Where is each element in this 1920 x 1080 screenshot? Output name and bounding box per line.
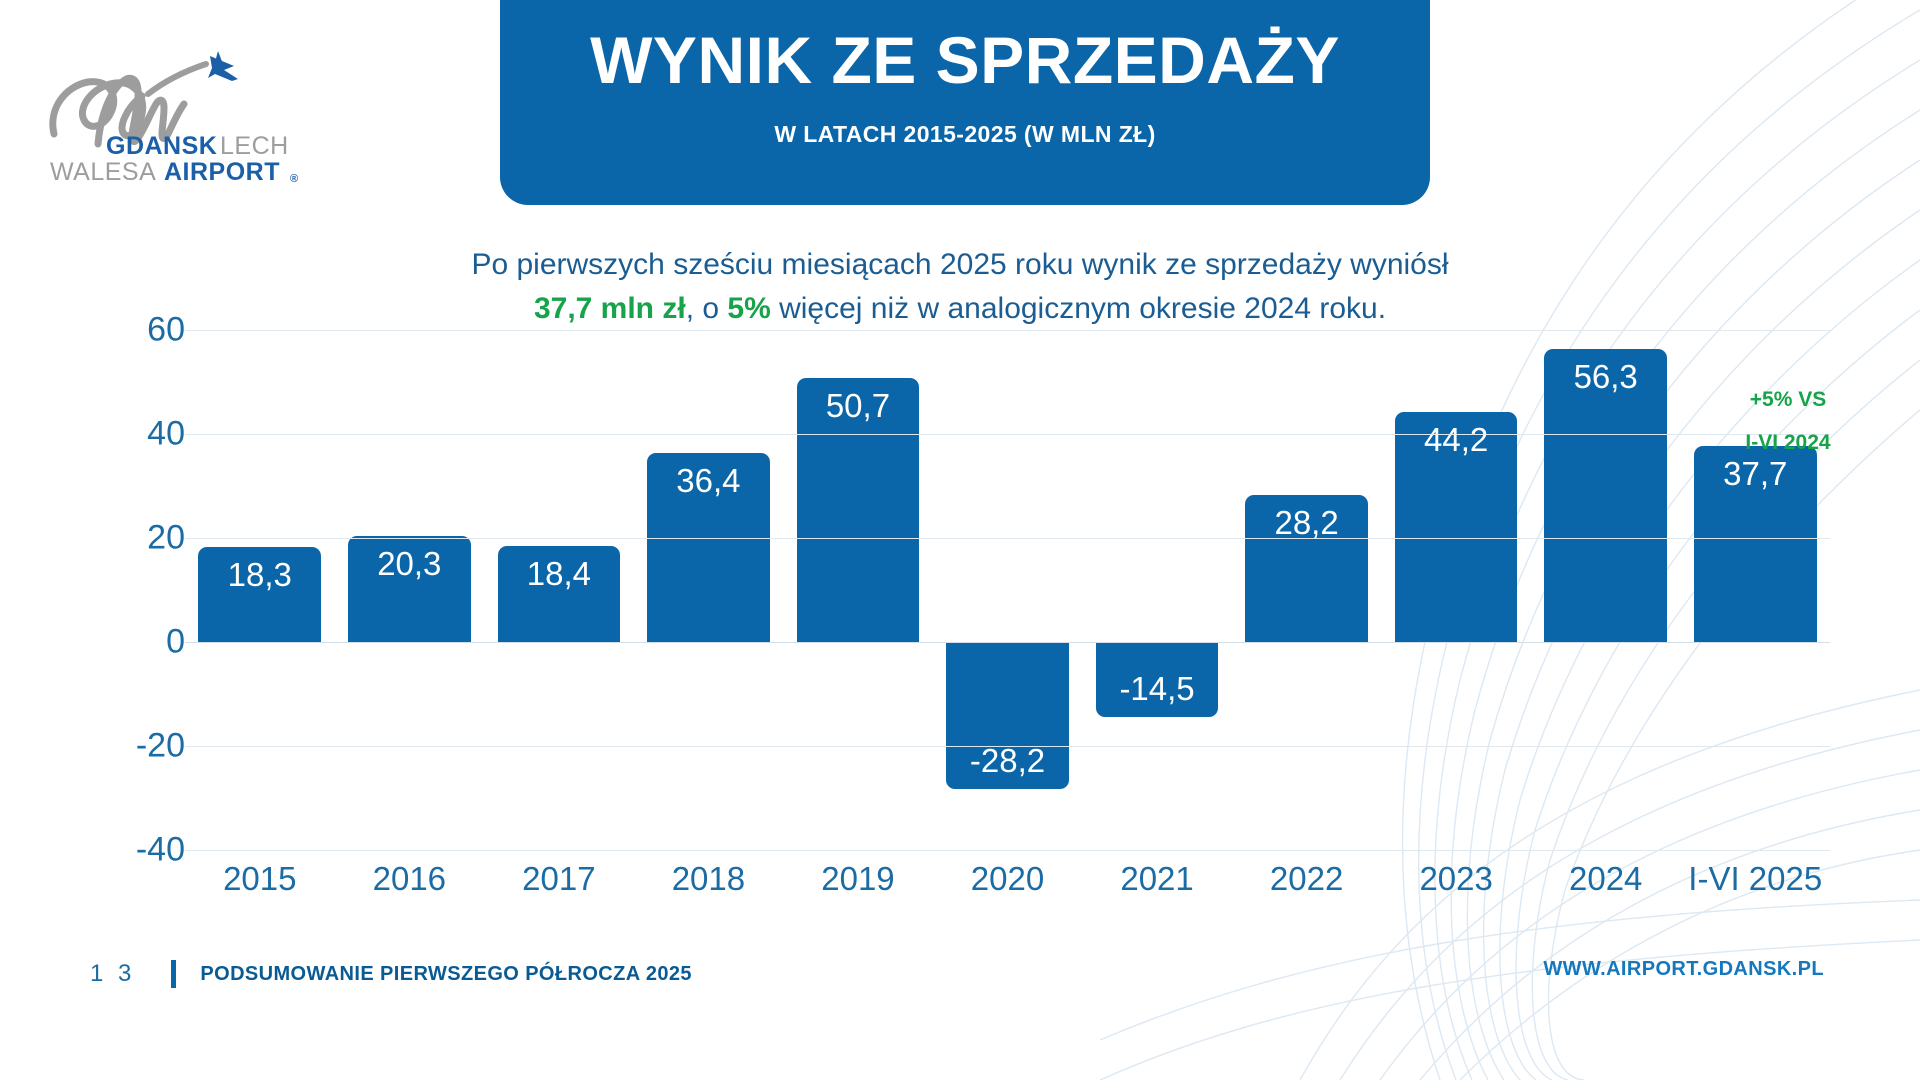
footer: 1 3 PODSUMOWANIE PIERWSZEGO PÓŁROCZA 202… — [0, 954, 1920, 994]
page-subtitle: W LATACH 2015-2025 (W MLN ZŁ) — [774, 121, 1155, 148]
bar-slot: 36,4 — [634, 330, 784, 850]
description-text-2: , o — [686, 292, 728, 325]
description-text-3: więcej niż w analogicznym okresie 2024 r… — [771, 292, 1386, 325]
svg-text:LECH: LECH — [220, 132, 289, 160]
bar[interactable]: 18,3 — [198, 547, 321, 642]
bar-slot: 18,4 — [484, 330, 634, 850]
bar-value-label: -28,2 — [946, 742, 1069, 780]
highlight-percent: 5% — [727, 292, 770, 325]
y-axis-tick: -20 — [136, 727, 185, 766]
bar[interactable]: 37,7 — [1694, 446, 1817, 642]
svg-text:WALESA: WALESA — [50, 158, 156, 186]
gridline — [185, 746, 1830, 747]
bar-value-label: 44,2 — [1395, 421, 1518, 459]
bar[interactable]: 50,7 — [797, 378, 920, 642]
y-axis-tick: 0 — [166, 623, 185, 662]
gridline — [185, 850, 1830, 851]
bar[interactable]: 36,4 — [647, 453, 770, 642]
bar-value-label: 50,7 — [797, 387, 920, 425]
title-banner: WYNIK ZE SPRZEDAŻY W LATACH 2015-2025 (W… — [500, 0, 1430, 205]
footer-title: PODSUMOWANIE PIERWSZEGO PÓŁROCZA 2025 — [200, 963, 692, 986]
footer-divider — [171, 960, 176, 988]
bar[interactable]: 18,4 — [498, 546, 621, 642]
x-axis-tick: 2023 — [1381, 860, 1531, 920]
page-title: WYNIK ZE SPRZEDAŻY — [590, 26, 1340, 95]
gridline — [185, 642, 1830, 643]
bar-slot: -14,5 — [1082, 330, 1232, 850]
x-axis: 2015201620172018201920202021202220232024… — [185, 860, 1830, 920]
description-line-1: Po pierwszych sześciu miesiącach 2025 ro… — [0, 243, 1920, 287]
gridline — [185, 538, 1830, 539]
slide-root: GDANSK LECH WALESA AIRPORT ® WYNIK ZE SP… — [0, 0, 1920, 1080]
x-axis-tick: 2021 — [1082, 860, 1232, 920]
x-axis-tick: I-VI 2025 — [1680, 860, 1830, 920]
svg-text:AIRPORT: AIRPORT — [164, 158, 280, 186]
bar-slot: 18,3 — [185, 330, 335, 850]
bar[interactable]: 28,2 — [1245, 495, 1368, 642]
bar-slot: 56,3 — [1531, 330, 1681, 850]
bar-value-label: 18,3 — [198, 556, 321, 594]
bar-slot: 44,2 — [1381, 330, 1531, 850]
bar-value-label: 18,4 — [498, 555, 621, 593]
y-axis: 6040200-20-40 — [95, 330, 185, 850]
bar[interactable]: -28,2 — [946, 642, 1069, 789]
y-axis-tick: -40 — [136, 831, 185, 870]
x-axis-tick: 2018 — [634, 860, 784, 920]
description-line-2: 37,7 mln zł, o 5% więcej niż w analogicz… — [0, 287, 1920, 331]
y-axis-tick: 20 — [147, 519, 185, 558]
x-axis-tick: 2019 — [783, 860, 933, 920]
x-axis-tick: 2020 — [933, 860, 1083, 920]
bar-slot: 20,3 — [335, 330, 485, 850]
footer-left: 1 3 PODSUMOWANIE PIERWSZEGO PÓŁROCZA 202… — [90, 954, 692, 994]
x-axis-tick: 2017 — [484, 860, 634, 920]
annotation-line-2: I-VI 2024 — [1698, 421, 1878, 464]
plot-area: 18,320,318,436,450,7-28,2-14,528,244,256… — [185, 330, 1830, 850]
description-text: Po pierwszych sześciu miesiącach 2025 ro… — [0, 243, 1920, 332]
bar-series: 18,320,318,436,450,7-28,2-14,528,244,256… — [185, 330, 1830, 850]
y-axis-tick: 40 — [147, 415, 185, 454]
bar-chart: 6040200-20-40 18,320,318,436,450,7-28,2-… — [0, 330, 1920, 910]
bar-value-label: 56,3 — [1544, 358, 1667, 396]
footer-website[interactable]: WWW.AIRPORT.GDANSK.PL — [1543, 958, 1824, 981]
bar-value-label: 28,2 — [1245, 504, 1368, 542]
svg-text:®: ® — [290, 173, 298, 185]
bar-value-label: -14,5 — [1096, 670, 1219, 708]
bar[interactable]: 56,3 — [1544, 349, 1667, 642]
x-axis-tick: 2015 — [185, 860, 335, 920]
x-axis-tick: 2016 — [335, 860, 485, 920]
bar-slot: 50,7 — [783, 330, 933, 850]
bar-slot: -28,2 — [933, 330, 1083, 850]
airport-logo: GDANSK LECH WALESA AIRPORT ® — [38, 48, 338, 188]
bar[interactable]: -14,5 — [1096, 642, 1219, 717]
airplane-icon — [208, 51, 238, 81]
svg-text:GDANSK: GDANSK — [106, 132, 217, 160]
growth-annotation: +5% VS I-VI 2024 — [1698, 378, 1878, 464]
gridline — [185, 434, 1830, 435]
bar[interactable]: 44,2 — [1395, 412, 1518, 642]
x-axis-tick: 2022 — [1232, 860, 1382, 920]
page-number: 1 3 — [90, 960, 135, 988]
annotation-line-1: +5% VS — [1698, 378, 1878, 421]
bar-value-label: 20,3 — [348, 545, 471, 583]
bar-slot: 28,2 — [1232, 330, 1382, 850]
bar-value-label: 36,4 — [647, 462, 770, 500]
bar[interactable]: 20,3 — [348, 536, 471, 642]
highlight-amount: 37,7 mln zł — [534, 292, 686, 325]
x-axis-tick: 2024 — [1531, 860, 1681, 920]
